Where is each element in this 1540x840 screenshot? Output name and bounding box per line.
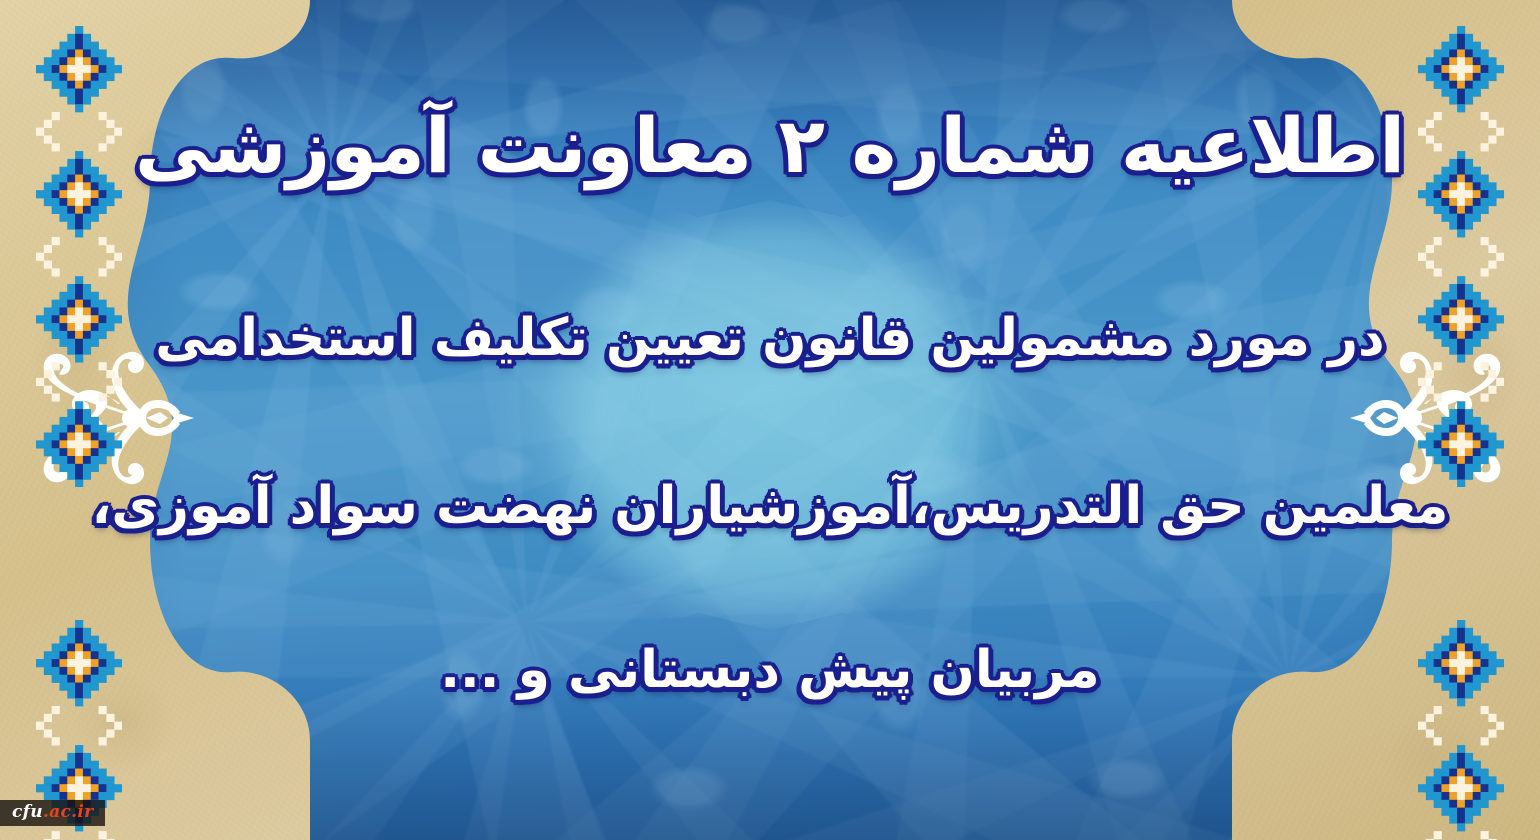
kilim-diamond-motif-icon [36,26,122,487]
watermark-secondary: .ac.ir [43,802,93,822]
kilim-diamond-motif-icon [1418,620,1504,840]
site-watermark: cfu.ac.ir [0,800,105,826]
kilim-diamond-motif-icon [1418,26,1504,487]
blue-cusped-panel [0,0,1540,840]
watermark-primary: cfu [12,802,43,822]
panel-vignette [0,0,1540,840]
poster-canvas: اطلاعیه شماره ۲ معاونت آموزشی در مورد مش… [0,0,1540,840]
blue-panel-wrapper [0,0,1540,840]
